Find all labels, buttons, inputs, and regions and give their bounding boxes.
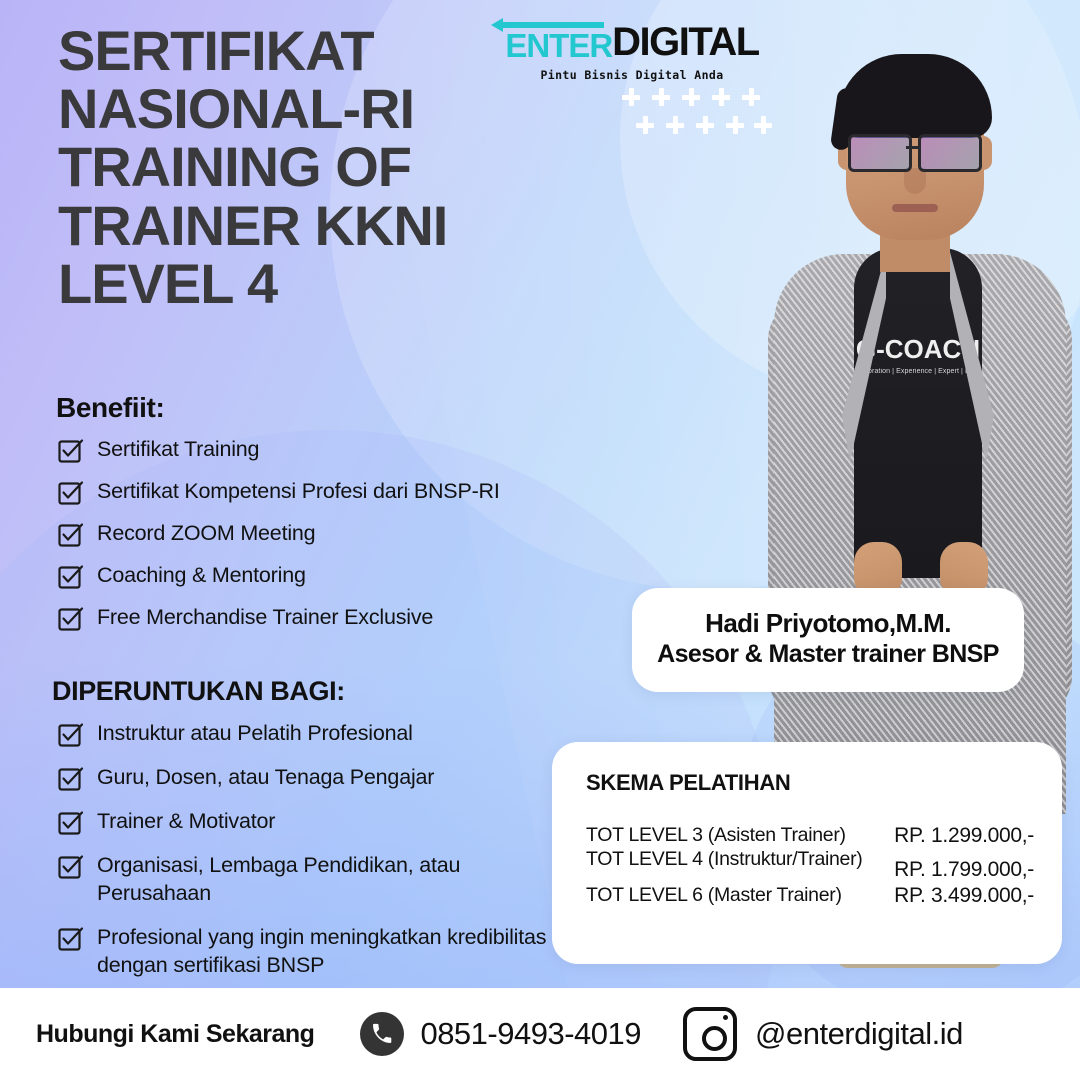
checkbox-checked-icon <box>58 768 81 791</box>
list-item: Trainer & Motivator <box>58 808 578 836</box>
plus-icon <box>622 88 640 106</box>
list-item: Record ZOOM Meeting <box>58 520 598 548</box>
list-item: Coaching & Mentoring <box>58 562 598 590</box>
list-item: Sertifikat Training <box>58 436 598 464</box>
table-row: TOT LEVEL 6 (Master Trainer) RP. 3.499.0… <box>586 884 1034 908</box>
plus-icon <box>726 116 744 134</box>
list-item: Profesional yang ingin meningkatkan kred… <box>58 924 578 980</box>
eyeglass-bridge <box>906 146 918 149</box>
target-list: Instruktur atau Pelatih Profesional Guru… <box>58 720 578 996</box>
checkbox-checked-icon <box>58 928 81 951</box>
checkbox-checked-icon <box>58 482 81 505</box>
plus-icon <box>754 116 772 134</box>
target-item-label: Trainer & Motivator <box>97 808 275 836</box>
eyeglass-lens-right <box>918 134 982 172</box>
contact-instagram-handle[interactable]: @enterdigital.id <box>755 1016 963 1052</box>
target-item-label: Guru, Dosen, atau Tenaga Pengajar <box>97 764 434 792</box>
pricing-card-title: SKEMA PELATIHAN <box>586 770 791 796</box>
speaker-name: Hadi Priyotomo,M.M. <box>648 608 1008 639</box>
logo-digital-label: DIGITAL <box>612 22 759 62</box>
checkbox-checked-icon <box>58 608 81 631</box>
benefit-item-label: Record ZOOM Meeting <box>97 520 315 548</box>
portrait-tshirt: G-COACH Exploration | Experience | Exper… <box>854 248 982 578</box>
list-item: Guru, Dosen, atau Tenaga Pengajar <box>58 764 578 792</box>
speaker-name-card: Hadi Priyotomo,M.M. Asesor & Master trai… <box>632 588 1024 692</box>
eyeglasses-icon <box>842 134 990 168</box>
plus-icon <box>712 88 730 106</box>
plus-icon <box>696 116 714 134</box>
target-section-title: DIPERUNTUKAN BAGI: <box>52 676 345 707</box>
poster-canvas: G-COACH Exploration | Experience | Exper… <box>0 0 1080 1080</box>
checkbox-checked-icon <box>58 440 81 463</box>
title-line-2: NASIONAL-RI <box>58 80 578 138</box>
portrait-hair <box>838 54 992 138</box>
list-item: Instruktur atau Pelatih Profesional <box>58 720 578 748</box>
instagram-icon[interactable] <box>683 1007 737 1061</box>
target-item-label: Profesional yang ingin meningkatkan kred… <box>97 924 578 980</box>
table-row: TOT LEVEL 4 (Instruktur/Trainer) RP. 1.7… <box>586 848 1034 882</box>
pricing-level-price: RP. 1.799.000,- <box>886 848 1034 882</box>
plus-icon <box>652 88 670 106</box>
pricing-rows: TOT LEVEL 3 (Asisten Trainer) RP. 1.299.… <box>586 824 1034 910</box>
plus-icon <box>636 116 654 134</box>
benefit-item-label: Sertifikat Kompetensi Profesi dari BNSP-… <box>97 478 500 506</box>
eyeglass-lens-left <box>848 134 912 172</box>
checkbox-checked-icon <box>58 856 81 879</box>
page-title: SERTIFIKAT NASIONAL-RI TRAINING OF TRAIN… <box>58 22 578 313</box>
plus-icon <box>682 88 700 106</box>
list-item: Free Merchandise Trainer Exclusive <box>58 604 598 632</box>
pricing-card: SKEMA PELATIHAN TOT LEVEL 3 (Asisten Tra… <box>552 742 1062 964</box>
pricing-level-price: RP. 1.299.000,- <box>886 824 1034 848</box>
pricing-level-label: TOT LEVEL 4 (Instruktur/Trainer) <box>586 848 863 871</box>
benefit-item-label: Coaching & Mentoring <box>97 562 306 590</box>
checkbox-checked-icon <box>58 724 81 747</box>
plus-decoration-group <box>622 88 772 140</box>
checkbox-checked-icon <box>58 524 81 547</box>
benefit-item-label: Free Merchandise Trainer Exclusive <box>97 604 433 632</box>
list-item: Sertifikat Kompetensi Profesi dari BNSP-… <box>58 478 598 506</box>
target-item-label: Organisasi, Lembaga Pendidikan, atau Per… <box>97 852 578 908</box>
tshirt-graphic-subtext: Exploration | Experience | Expert | Enha… <box>854 368 982 375</box>
benefit-list: Sertifikat Training Sertifikat Kompetens… <box>58 436 598 646</box>
contact-cta-label: Hubungi Kami Sekarang <box>36 1020 314 1049</box>
speaker-role: Asesor & Master trainer BNSP <box>648 640 1008 669</box>
checkbox-checked-icon <box>58 812 81 835</box>
portrait-mouth <box>892 204 938 212</box>
title-line-4: TRAINER KKNI <box>58 197 578 255</box>
pricing-level-price: RP. 3.499.000,- <box>886 884 1034 908</box>
table-row: TOT LEVEL 3 (Asisten Trainer) RP. 1.299.… <box>586 824 1034 848</box>
plus-icon <box>742 88 760 106</box>
phone-icon[interactable] <box>360 1012 404 1056</box>
title-line-1: SERTIFIKAT <box>58 22 578 80</box>
benefit-section-title: Benefiit: <box>56 392 164 424</box>
list-item: Organisasi, Lembaga Pendidikan, atau Per… <box>58 852 578 908</box>
checkbox-checked-icon <box>58 566 81 589</box>
contact-phone-number[interactable]: 0851-9493-4019 <box>420 1016 641 1052</box>
title-line-3: TRAINING OF <box>58 138 578 196</box>
target-item-label: Instruktur atau Pelatih Profesional <box>97 720 413 748</box>
title-line-5: LEVEL 4 <box>58 255 578 313</box>
benefit-item-label: Sertifikat Training <box>97 436 259 464</box>
pricing-level-label: TOT LEVEL 6 (Master Trainer) <box>586 884 842 907</box>
plus-icon <box>666 116 684 134</box>
contact-footer: Hubungi Kami Sekarang 0851-9493-4019 @en… <box>0 988 1080 1080</box>
pricing-level-label: TOT LEVEL 3 (Asisten Trainer) <box>586 824 846 847</box>
